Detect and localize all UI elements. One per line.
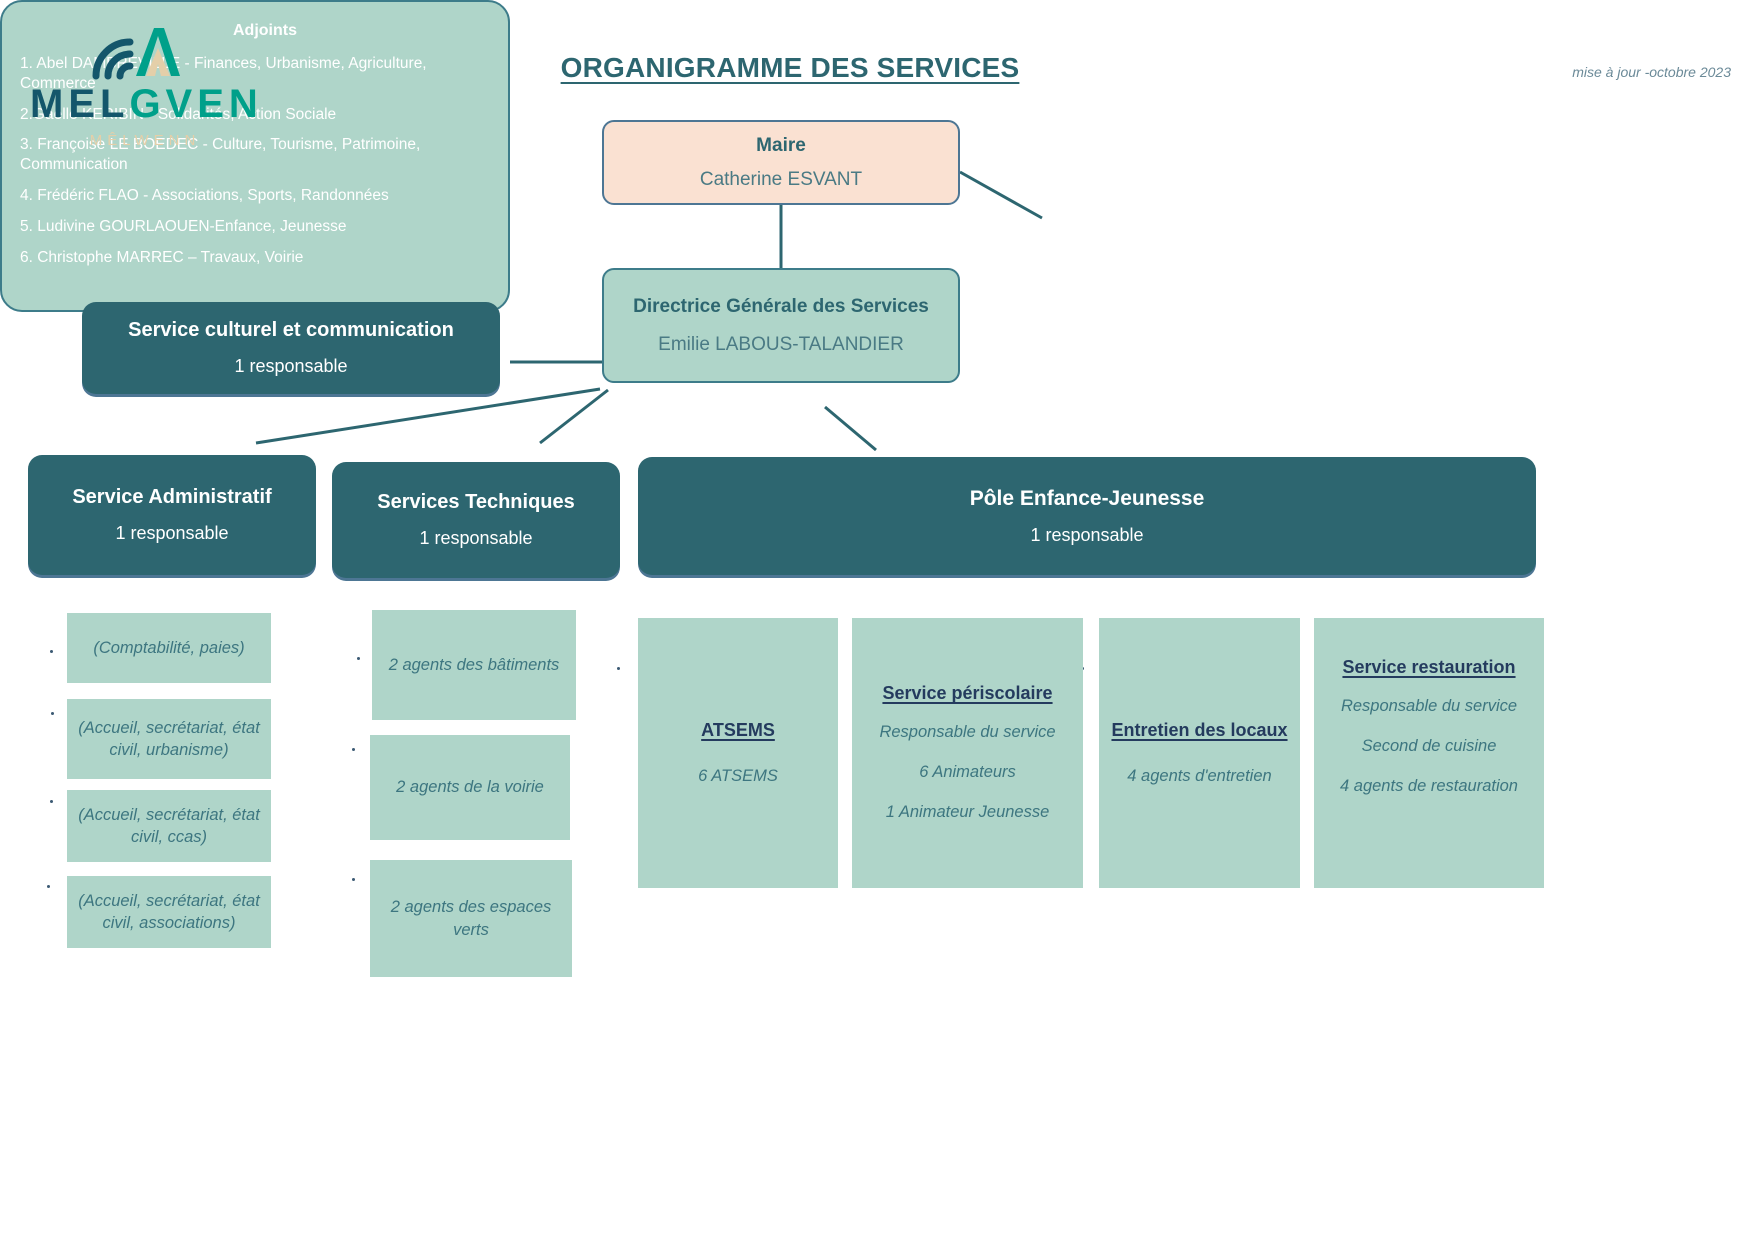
bullet-dot bbox=[51, 712, 54, 715]
maire-card[interactable]: Maire Catherine ESVANT bbox=[602, 120, 960, 205]
service-administratif-card[interactable]: Service Administratif 1 responsable bbox=[28, 455, 316, 575]
logo-word-part1: MEL bbox=[30, 82, 129, 126]
administratif-unit: (Accueil, secrétariat, état civil, ccas) bbox=[67, 790, 271, 862]
bullet-dot bbox=[50, 800, 53, 803]
pole-enfance-jeunesse-card[interactable]: Pôle Enfance-Jeunesse 1 responsable bbox=[638, 457, 1536, 575]
adjoint-item: 5. Ludivine GOURLAOUEN-Enfance, Jeunesse bbox=[20, 217, 490, 237]
enfance-unit-line: Responsable du service bbox=[1341, 695, 1517, 717]
services-techniques-title: Services Techniques bbox=[377, 491, 575, 514]
enfance-unit-line: 6 Animateurs bbox=[919, 761, 1016, 783]
service-culturel-card[interactable]: Service culturel et communication 1 resp… bbox=[82, 302, 500, 394]
pole-enfance-title: Pôle Enfance-Jeunesse bbox=[970, 487, 1205, 511]
administratif-unit: (Accueil, secrétariat, état civil, urban… bbox=[67, 699, 271, 779]
techniques-unit: 2 agents des espaces verts bbox=[370, 860, 572, 977]
enfance-unit-line: 4 agents d'entretien bbox=[1127, 765, 1271, 787]
maire-name: Catherine ESVANT bbox=[700, 169, 862, 191]
enfance-unit-line: Responsable du service bbox=[879, 721, 1055, 743]
enfance-unit-entretien: Entretien des locaux 4 agents d'entretie… bbox=[1099, 618, 1300, 888]
dgs-name: Emilie LABOUS-TALANDIER bbox=[658, 334, 904, 356]
enfance-unit-line: 6 ATSEMS bbox=[698, 765, 778, 787]
techniques-unit: 2 agents de la voirie bbox=[370, 735, 570, 840]
organigramme-canvas: MELGVEN MÊLWENN ORGANIGRAMME DES SERVICE… bbox=[0, 0, 1755, 1241]
techniques-unit: 2 agents des bâtiments bbox=[372, 610, 576, 720]
logo-word-part2: GVEN bbox=[129, 82, 262, 126]
enfance-unit-line: 1 Animateur Jeunesse bbox=[886, 801, 1050, 823]
administratif-unit: (Comptabilité, paies) bbox=[67, 613, 271, 683]
pole-enfance-staff: 1 responsable bbox=[1030, 525, 1143, 546]
bullet-dot bbox=[50, 650, 53, 653]
enfance-unit-atsems: ATSEMS 6 ATSEMS bbox=[638, 618, 838, 888]
enfance-unit-line: 4 agents de restauration bbox=[1340, 775, 1518, 797]
adjoint-item: 6. Christophe MARREC – Travaux, Voirie bbox=[20, 248, 490, 268]
dgs-title: Directrice Générale des Services bbox=[633, 295, 929, 320]
enfance-unit-restauration: Service restauration Responsable du serv… bbox=[1314, 618, 1544, 888]
page-title: ORGANIGRAMME DES SERVICES bbox=[470, 52, 1110, 84]
bullet-dot bbox=[352, 748, 355, 751]
service-administratif-title: Service Administratif bbox=[72, 486, 271, 509]
enfance-unit-title: Service périscolaire bbox=[882, 682, 1052, 705]
service-administratif-staff: 1 responsable bbox=[115, 523, 228, 544]
enfance-unit-title: ATSEMS bbox=[701, 719, 775, 742]
logo-subtitle: MÊLWENN bbox=[30, 132, 260, 149]
bullet-dot bbox=[357, 657, 360, 660]
services-techniques-card[interactable]: Services Techniques 1 responsable bbox=[332, 462, 620, 578]
update-note: mise à jour -octobre 2023 bbox=[1572, 64, 1731, 80]
adjoint-item: 4. Frédéric FLAO - Associations, Sports,… bbox=[20, 186, 490, 206]
administratif-unit: (Accueil, secrétariat, état civil, assoc… bbox=[67, 876, 271, 948]
maire-title: Maire bbox=[756, 135, 806, 157]
bullet-dot bbox=[47, 885, 50, 888]
bullet-dot bbox=[352, 878, 355, 881]
service-culturel-staff: 1 responsable bbox=[234, 356, 347, 377]
enfance-unit-title: Entretien des locaux bbox=[1111, 719, 1287, 742]
bullet-dot bbox=[617, 667, 620, 670]
logo-mark-icon bbox=[88, 22, 208, 80]
dgs-card[interactable]: Directrice Générale des Services Emilie … bbox=[602, 268, 960, 383]
service-culturel-title: Service culturel et communication bbox=[128, 319, 454, 342]
enfance-unit-periscolaire: Service périscolaire Responsable du serv… bbox=[852, 618, 1083, 888]
enfance-unit-title: Service restauration bbox=[1342, 656, 1515, 679]
enfance-unit-line: Second de cuisine bbox=[1362, 735, 1497, 757]
melgven-logo: MELGVEN MÊLWENN bbox=[30, 22, 260, 147]
logo-wordmark: MELGVEN bbox=[30, 84, 260, 124]
services-techniques-staff: 1 responsable bbox=[419, 528, 532, 549]
